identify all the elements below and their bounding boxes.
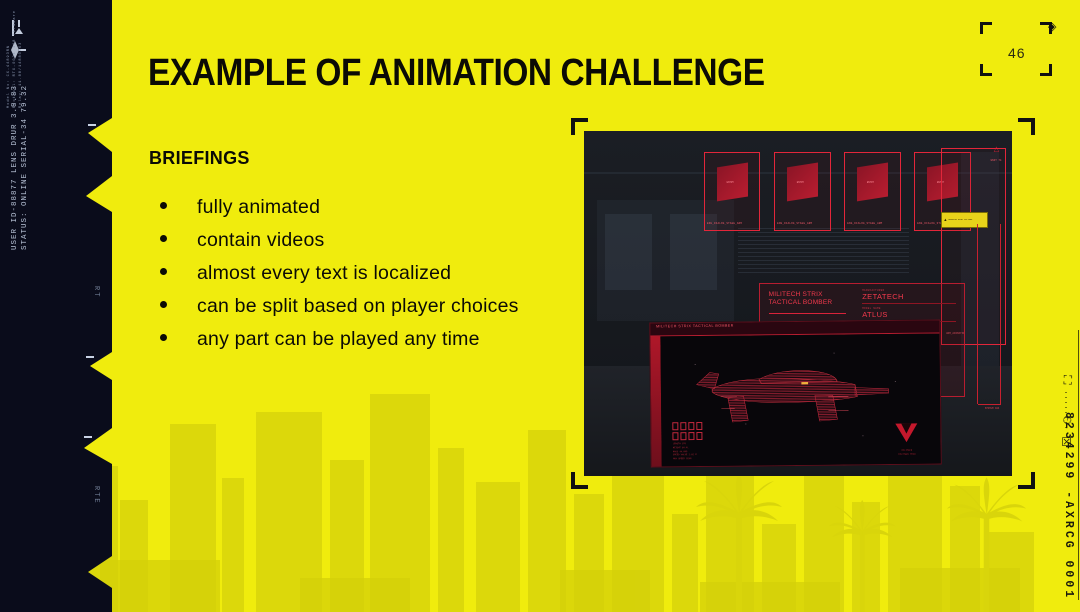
warning-sticker-text: WARNING HIGH VOLTAGE xyxy=(948,219,972,222)
screenshot-corner-br xyxy=(1018,472,1035,489)
page-frame-corner-tl xyxy=(980,22,992,34)
stat-bar xyxy=(673,422,679,430)
screenshot-corner-tr xyxy=(1018,118,1035,135)
stat-bar xyxy=(673,432,679,440)
viewer-body: LENGTH 370 HEIGHT 88.4L MASS 44.8KG SPEE… xyxy=(661,333,941,466)
left-rail-inner: Model No: CX-44893RN Protocol: RTX-0021 … xyxy=(0,0,104,612)
left-sidebar-rail: Model No: CX-44893RN Protocol: RTX-0021 … xyxy=(0,0,112,612)
bullet-label: can be split based on player choices xyxy=(197,295,519,318)
hud-right-panel-label: UNIT 74 xyxy=(991,159,1002,163)
thumbnail-mini-label: ENTRY xyxy=(727,181,734,184)
hud-thumbnail-strip: ENTRY ENG_DIALOG_STAGE_ARM ENTRY ENG_DIA… xyxy=(704,152,974,231)
vehicle-name-line-1: MILITECH STRIX xyxy=(769,291,823,298)
rail-user-id-readout: USER ID-88877 LENS DRUR 3.8.83 xyxy=(11,85,19,250)
section-subheading: BRIEFINGS xyxy=(149,148,250,169)
militech-chevron-icon xyxy=(892,421,922,443)
spec-divider xyxy=(862,303,956,304)
no-signal-icon: ◈ xyxy=(1048,20,1056,33)
stat-bar-row xyxy=(673,431,762,440)
rail-mark-a: RT xyxy=(92,286,100,298)
hud-post-crossbar xyxy=(978,404,1002,405)
right-rail-serial-code: 8234299 -AXRCG 0001 xyxy=(1062,412,1075,600)
bullet-list: fully animated contain videos almost eve… xyxy=(160,196,519,361)
boxed-x-icon: ⛶ xyxy=(1064,374,1072,386)
bullet-label: any part can be played any time xyxy=(197,328,480,351)
list-item: fully animated xyxy=(160,196,519,229)
hazard-triangle-icon: ▲ xyxy=(943,218,947,222)
stat-bar xyxy=(681,422,687,430)
hud-thumbnail[interactable]: ENTRY ENG_DIALOG_STAGE_ARM xyxy=(704,152,761,231)
game-screenshot-canvas: ENTRY ENG_DIALOG_STAGE_ARM ENTRY ENG_DIA… xyxy=(584,131,1012,476)
warning-triangle-icon: △ xyxy=(994,145,999,153)
rail-tick-1 xyxy=(88,124,96,126)
stat-bar xyxy=(689,422,695,430)
background-palm-trees xyxy=(660,477,1080,612)
env-window-pane-left xyxy=(605,214,652,290)
spec-value: ZETATECH xyxy=(862,292,956,301)
hud-post-right xyxy=(1000,224,1001,403)
bullet-dot-icon xyxy=(160,334,167,341)
viewer-title: MILITECH STRIX TACTICAL BOMBER xyxy=(656,324,734,329)
screenshot-corner-tl xyxy=(571,118,588,135)
list-item: any part can be played any time xyxy=(160,328,519,361)
screenshot-corner-bl xyxy=(571,472,588,489)
militech-logo: MILITECH MILITARY TECH xyxy=(890,421,924,455)
page-frame-corner-br xyxy=(1040,64,1052,76)
right-rail-divider xyxy=(1078,330,1079,600)
list-item: can be split based on player choices xyxy=(160,295,519,328)
list-item: almost every text is localized xyxy=(160,262,519,295)
rail-tick-2 xyxy=(86,356,94,358)
bullet-dot-icon xyxy=(160,235,167,242)
hud-thumbnail[interactable]: ENTRY ENG_DIALOG_STAGE_ARM xyxy=(844,152,901,231)
bullet-label: almost every text is localized xyxy=(197,262,451,285)
rail-status-readout: STATUS: ONLINE SERIAL-34 79.32 xyxy=(21,85,29,250)
hud-post-left xyxy=(977,224,978,403)
thumbnail-mini-label: ENTRY xyxy=(867,181,874,184)
hud-thumbnail[interactable]: ENTRY ENG_DIALOG_STAGE_ARM xyxy=(774,152,831,231)
thumbnail-label: ENG_DIALOG_STAGE_ARM xyxy=(707,222,742,226)
page-frame-corner-bl xyxy=(980,64,992,76)
stat-bar-row xyxy=(673,421,762,430)
stat-bar xyxy=(697,432,703,440)
viewer-stat-block: LENGTH 370 HEIGHT 88.4L MASS 44.8KG SPEE… xyxy=(673,421,763,461)
vehicle-name: MILITECH STRIX TACTICAL BOMBER xyxy=(769,291,833,307)
env-wall-slats xyxy=(738,228,909,276)
hud-post-label: SYSTEM CHK xyxy=(985,407,999,411)
stat-bar xyxy=(681,432,687,440)
spec-row: MANUFACTURER ZETATECH xyxy=(862,289,956,304)
right-sidebar-rail: ⛶ ⏱ ☒ 8234299 -AXRCG 0001 xyxy=(1044,0,1080,612)
rail-mark-b: RTE xyxy=(92,486,100,505)
warning-sticker: ▲ WARNING HIGH VOLTAGE xyxy=(941,212,988,228)
stat-bar xyxy=(697,422,703,430)
bullet-dot-icon xyxy=(160,268,167,275)
rail-tick-3 xyxy=(84,436,92,438)
bullet-dot-icon xyxy=(160,202,167,209)
game-screenshot: ENTRY ENG_DIALOG_STAGE_ARM ENTRY ENG_DIA… xyxy=(584,131,1012,476)
thumbnail-label: ENG_DIALOG_STAGE_ARM xyxy=(847,222,882,226)
page-number: 46 xyxy=(1008,45,1026,61)
bullet-label: contain videos xyxy=(197,229,324,252)
vehicle-name-line-2: TACTICAL BOMBER xyxy=(769,299,833,306)
vehicle-viewer-window: MILITECH STRIX TACTICAL BOMBER xyxy=(650,319,943,467)
thumbnail-label: ENG_DIALOG_STAGE_ARM xyxy=(777,222,812,226)
viewer-star xyxy=(863,435,864,436)
stat-bar xyxy=(689,432,695,440)
bullet-dot-icon xyxy=(160,301,167,308)
list-item: contain videos xyxy=(160,229,519,262)
slide-title: EXAMPLE OF ANIMATION CHALLENGE xyxy=(148,52,765,95)
viewer-star xyxy=(834,352,835,353)
stat-line: MAX SPEED 92KM xyxy=(673,456,762,461)
vehicle-name-underline xyxy=(769,313,846,314)
spec-value: ATLUS xyxy=(862,310,956,319)
thumbnail-mini-label: ENTRY xyxy=(797,181,804,184)
militech-logo-text-2: MILITARY TECH xyxy=(890,452,924,456)
bullet-label: fully animated xyxy=(197,196,320,219)
